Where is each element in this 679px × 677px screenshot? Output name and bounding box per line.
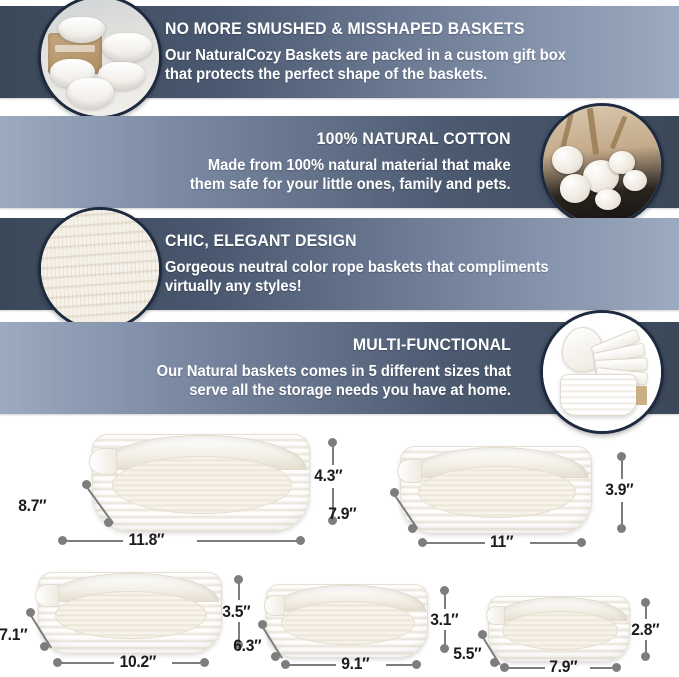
photo-content <box>543 106 661 224</box>
product-infographic: NO MORE SMUSHED & MISSHAPED BASKETS Our … <box>0 0 679 669</box>
basket-1-length-label: 11.8″ <box>129 530 165 550</box>
basket-5-height-label: 2.8″ <box>631 620 659 640</box>
dim-dot <box>408 524 417 533</box>
nested-basket-set-photo <box>540 310 664 434</box>
basket-3-length-label: 10.2″ <box>120 652 157 672</box>
photo-content <box>543 313 661 431</box>
banner-body: Our Natural baskets comes in 5 different… <box>157 362 511 401</box>
banner-heading: CHIC, ELEGANT DESIGN <box>165 231 357 251</box>
banner-body-line-2: serve all the storage needs you have at … <box>157 381 511 401</box>
dim-dot <box>40 642 49 651</box>
dim-dot <box>412 660 421 669</box>
basket-3-height-label: 3.5″ <box>222 602 250 622</box>
banner-text-block: MULTI-FUNCTIONAL Our Natural baskets com… <box>28 322 511 414</box>
dim-line <box>197 540 297 542</box>
dim-line <box>63 540 123 542</box>
dim-line <box>172 662 200 664</box>
cotton-bolls-photo <box>540 103 664 227</box>
banner-heading: 100% NATURAL COTTON <box>317 129 511 149</box>
photo-content <box>41 210 159 328</box>
dim-dot <box>612 663 621 672</box>
dim-dot <box>104 518 113 527</box>
banner-body-line-1: Gorgeous neutral color rope baskets that… <box>165 258 549 278</box>
basket-4-height-label: 3.1″ <box>430 610 458 630</box>
banner-body-line-2: that protects the perfect shape of the b… <box>165 65 566 85</box>
basket-1-width-label: 8.7″ <box>18 496 46 516</box>
basket-4-width-label: 6.3″ <box>233 636 261 656</box>
banner-text-block: 100% NATURAL COTTON Made from 100% natur… <box>28 116 511 208</box>
banner-body: Gorgeous neutral color rope baskets that… <box>165 258 549 297</box>
basket-3-width-label: 7.1″ <box>0 625 27 645</box>
dim-line <box>444 591 446 609</box>
banner-text-block: NO MORE SMUSHED & MISSHAPED BASKETS Our … <box>165 6 651 98</box>
dim-dot <box>490 658 499 667</box>
banner-body-line-2: them safe for your little ones, family a… <box>190 175 511 195</box>
dim-line <box>621 457 623 479</box>
banner-body: Made from 100% natural material that mak… <box>190 156 511 195</box>
basket-4-length-label: 9.1″ <box>341 654 369 674</box>
dim-dot <box>617 524 626 533</box>
dim-line <box>530 542 578 544</box>
dim-line <box>238 580 240 600</box>
dim-dot <box>271 652 280 661</box>
basket-2-height-label: 3.9″ <box>605 480 633 500</box>
dim-line <box>58 662 114 664</box>
banner-body-line-1: Our NaturalCozy Baskets are packed in a … <box>165 46 566 66</box>
banner-body-line-1: Made from 100% natural material that mak… <box>190 156 511 176</box>
dim-line <box>386 664 412 666</box>
banner-body-line-2: virtually any styles! <box>165 277 549 297</box>
basket-5-width-label: 5.5″ <box>453 644 481 664</box>
dim-line <box>645 603 647 619</box>
dim-line <box>423 542 485 544</box>
dim-line <box>332 443 334 465</box>
dim-dot <box>440 644 449 653</box>
banner-text-block: CHIC, ELEGANT DESIGN Gorgeous neutral co… <box>165 218 651 310</box>
basket-5-length-label: 7.9″ <box>549 657 577 677</box>
basket-2-length-label: 11″ <box>490 532 513 552</box>
dim-dot <box>296 536 305 545</box>
banner-heading: MULTI-FUNCTIONAL <box>353 335 511 355</box>
dim-dot <box>200 658 209 667</box>
banner-heading: NO MORE SMUSHED & MISSHAPED BASKETS <box>165 19 525 39</box>
photo-content <box>41 0 159 116</box>
dim-line <box>621 502 623 526</box>
dim-line <box>286 664 336 666</box>
dim-dot <box>577 538 586 547</box>
banner-body-line-1: Our Natural baskets comes in 5 different… <box>157 362 511 382</box>
basket-2-width-label: 7.9″ <box>328 504 356 524</box>
banner-body: Our NaturalCozy Baskets are packed in a … <box>165 46 566 85</box>
dim-dot <box>641 652 650 661</box>
basket-1-height-label: 4.3″ <box>314 466 342 486</box>
size-dimension-chart: 11.8″ 8.7″ 4.3″ 11″ <box>0 420 679 669</box>
gift-box-baskets-photo <box>38 0 162 119</box>
rope-texture-photo <box>38 207 162 331</box>
